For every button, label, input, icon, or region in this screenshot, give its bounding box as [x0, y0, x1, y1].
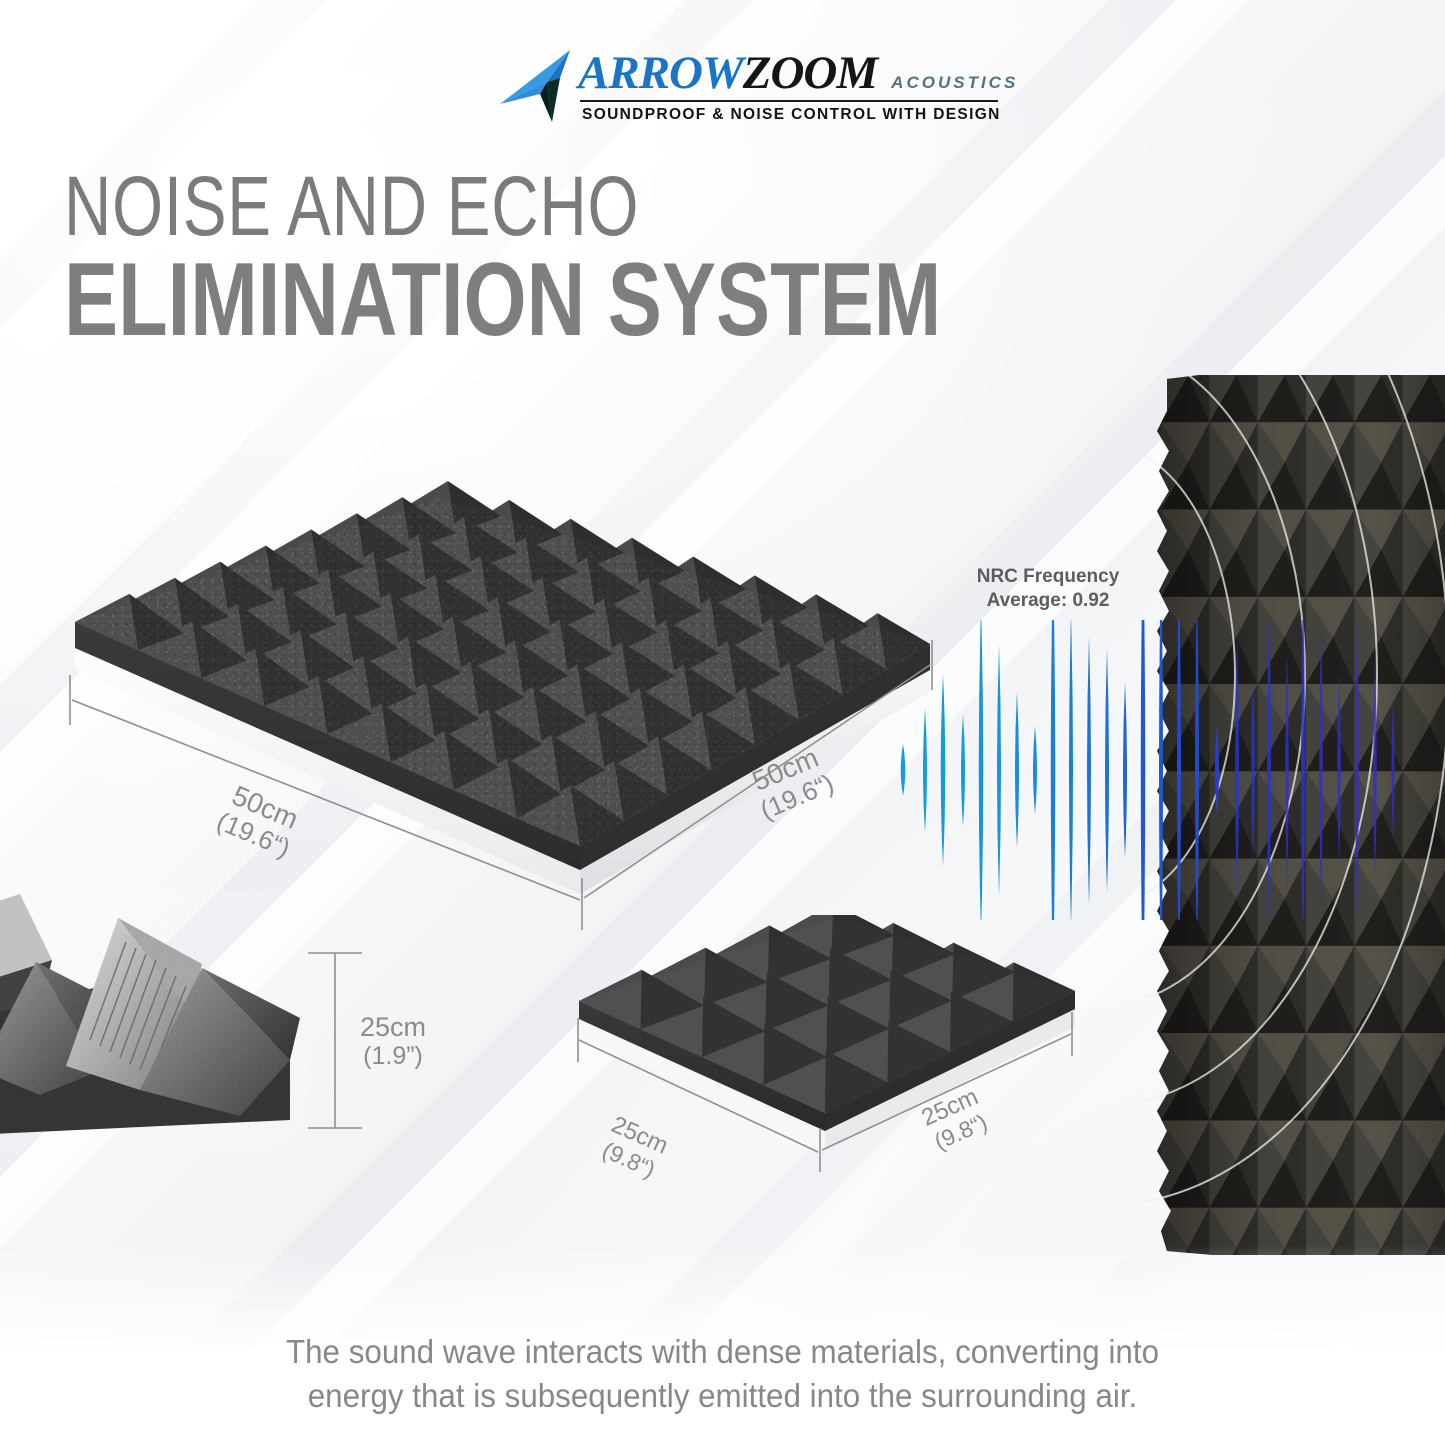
- dimension-label-height: 25cm (1.9”): [360, 1012, 426, 1070]
- logo-word-acoustics: ACOUSTICS: [891, 73, 1018, 93]
- waveform-bar: [1123, 682, 1127, 858]
- sound-waveform: [895, 620, 1415, 920]
- waveform-bar: [1267, 620, 1271, 920]
- logo-divider: [580, 100, 998, 102]
- waveform-bar: [1235, 638, 1239, 902]
- waveform-bar: [1355, 620, 1359, 920]
- panel-25-graphic: [565, 915, 1085, 1150]
- waveform-bar: [1285, 650, 1289, 890]
- waveform-bar: [1373, 660, 1377, 880]
- waveform-bar: [1141, 620, 1146, 920]
- acoustic-panel-25cm: [565, 915, 1085, 1150]
- waveform-bar: [941, 674, 946, 866]
- logo-word-arrow: ARROW: [578, 50, 743, 97]
- waveform-bar: [979, 620, 984, 920]
- waveform-graphic: [895, 620, 1415, 920]
- logo-tagline: SOUNDPROOF & NOISE CONTROL WITH DESIGN: [582, 106, 1001, 124]
- caption-line-1: The sound wave interacts with dense mate…: [122, 1330, 1324, 1374]
- acoustic-panel-50cm: [40, 470, 940, 920]
- waveform-bar: [1087, 636, 1091, 904]
- dimension-cm: 25cm: [360, 1012, 426, 1042]
- nrc-line-1: NRC Frequency: [948, 565, 1148, 589]
- foam-closeup-inset: [0, 890, 310, 1155]
- waveform-bar: [1337, 674, 1341, 866]
- headline-line-1: NOISE AND ECHO: [64, 168, 766, 245]
- waveform-bar: [1159, 620, 1163, 920]
- page-title: NOISE AND ECHO ELIMINATION SYSTEM: [64, 168, 964, 350]
- waveform-bar: [961, 714, 965, 826]
- waveform-bar: [1319, 630, 1323, 910]
- waveform-bar: [1069, 620, 1073, 920]
- caption-line-2: energy that is subsequently emitted into…: [122, 1374, 1324, 1418]
- waveform-bar: [1301, 620, 1305, 920]
- waveform-bar: [1251, 678, 1255, 862]
- foam-closeup-graphic: [0, 890, 310, 1155]
- waveform-bar: [1105, 648, 1109, 892]
- headline-line-2: ELIMINATION SYSTEM: [64, 251, 766, 350]
- waveform-bar: [1215, 724, 1219, 816]
- waveform-bar: [1177, 620, 1181, 920]
- brand-logo[interactable]: ARROW ZOOM ACOUSTICS SOUNDPROOF & NOISE …: [500, 44, 1000, 130]
- dimension-inch: (1.9”): [360, 1042, 426, 1070]
- waveform-bar: [1392, 698, 1395, 842]
- nrc-label: NRC Frequency Average: 0.92: [948, 565, 1148, 613]
- waveform-bar: [1051, 620, 1056, 920]
- logo-word-zoom: ZOOM: [743, 50, 877, 97]
- footer-caption: The sound wave interacts with dense mate…: [36, 1330, 1409, 1417]
- waveform-bar: [997, 644, 1001, 896]
- waveform-bar: [1015, 692, 1019, 848]
- poster-canvas: ARROW ZOOM ACOUSTICS SOUNDPROOF & NOISE …: [0, 0, 1445, 1445]
- panel-50-graphic: [40, 470, 940, 920]
- waveform-bar: [1033, 726, 1037, 814]
- waveform-bar: [1195, 620, 1199, 920]
- nrc-line-2: Average: 0.92: [948, 589, 1148, 613]
